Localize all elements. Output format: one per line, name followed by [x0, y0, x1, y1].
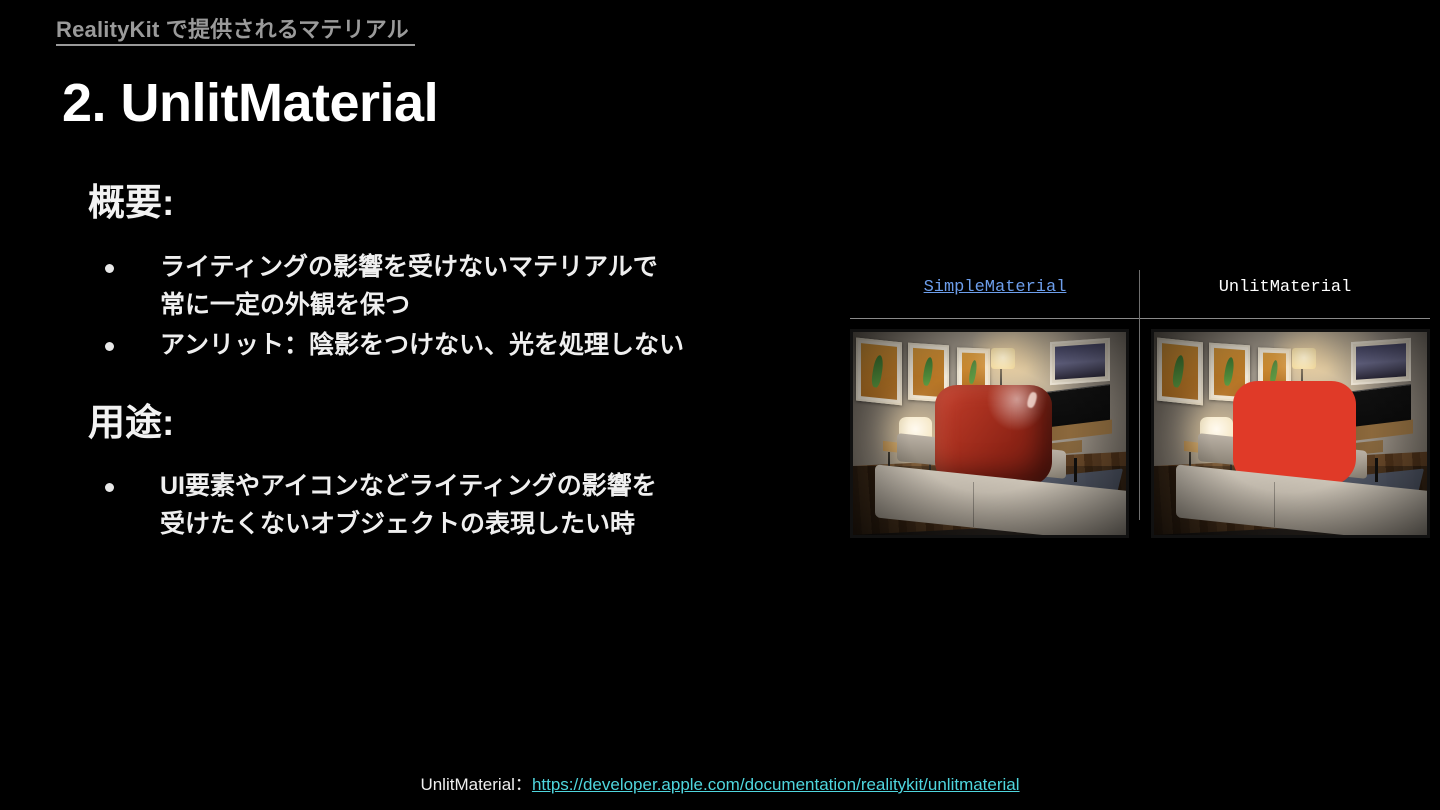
vertical-divider	[1139, 270, 1140, 520]
living-room-scene	[853, 332, 1126, 535]
horizontal-rule	[850, 318, 1430, 319]
vignette	[853, 332, 1126, 535]
material-comparison-panel: SimpleMaterial UnlitMaterial	[850, 278, 1430, 538]
bullet-line: 受けたくないオブジェクトの表現したい時	[160, 505, 820, 543]
bullet-line: UI要素やアイコンなどライティングの影響を	[160, 467, 820, 505]
bullet-list-usage: UI要素やアイコンなどライティングの影響を 受けたくないオブジェクトの表現したい…	[0, 467, 820, 543]
page-title: 2. UnlitMaterial	[62, 72, 438, 134]
section-heading-overview: 概要:	[88, 180, 820, 226]
caption-simple-material-link[interactable]: SimpleMaterial	[850, 278, 1140, 308]
living-room-scene	[1154, 332, 1427, 535]
bullet-dot-icon	[105, 483, 114, 492]
bullet-dot-icon	[105, 264, 114, 273]
bullet-line: アンリット：陰影をつけない、光を処理しない	[160, 326, 820, 364]
footer-documentation-link[interactable]: https://developer.apple.com/documentatio…	[532, 775, 1020, 794]
bullet-dot-icon	[105, 342, 114, 351]
list-item: UI要素やアイコンなどライティングの影響を 受けたくないオブジェクトの表現したい…	[0, 467, 820, 543]
bullet-line: ライティングの影響を受けないマテリアルで	[160, 248, 820, 286]
comparison-images	[850, 329, 1430, 538]
slide-eyebrow: RealityKit で提供されるマテリアル	[56, 17, 415, 46]
comparison-captions: SimpleMaterial UnlitMaterial	[850, 278, 1430, 308]
screenshot-unlit-material	[1151, 329, 1430, 538]
bullet-line: 常に一定の外観を保つ	[160, 286, 820, 324]
footer-label: UnlitMaterial：	[420, 775, 531, 794]
list-item: アンリット：陰影をつけない、光を処理しない	[0, 326, 820, 364]
caption-unlit-material: UnlitMaterial	[1140, 278, 1430, 308]
content-column: 概要: ライティングの影響を受けないマテリアルで 常に一定の外観を保つ アンリッ…	[0, 180, 820, 545]
footer: UnlitMaterial：https://developer.apple.co…	[0, 770, 1440, 795]
bullet-list-overview: ライティングの影響を受けないマテリアルで 常に一定の外観を保つ アンリット：陰影…	[0, 248, 820, 364]
slide-root: RealityKit で提供されるマテリアル 2. UnlitMaterial …	[0, 0, 1440, 810]
vignette	[1154, 332, 1427, 535]
screenshot-simple-material	[850, 329, 1129, 538]
list-item: ライティングの影響を受けないマテリアルで 常に一定の外観を保つ	[0, 248, 820, 324]
section-heading-usage: 用途:	[88, 400, 820, 446]
